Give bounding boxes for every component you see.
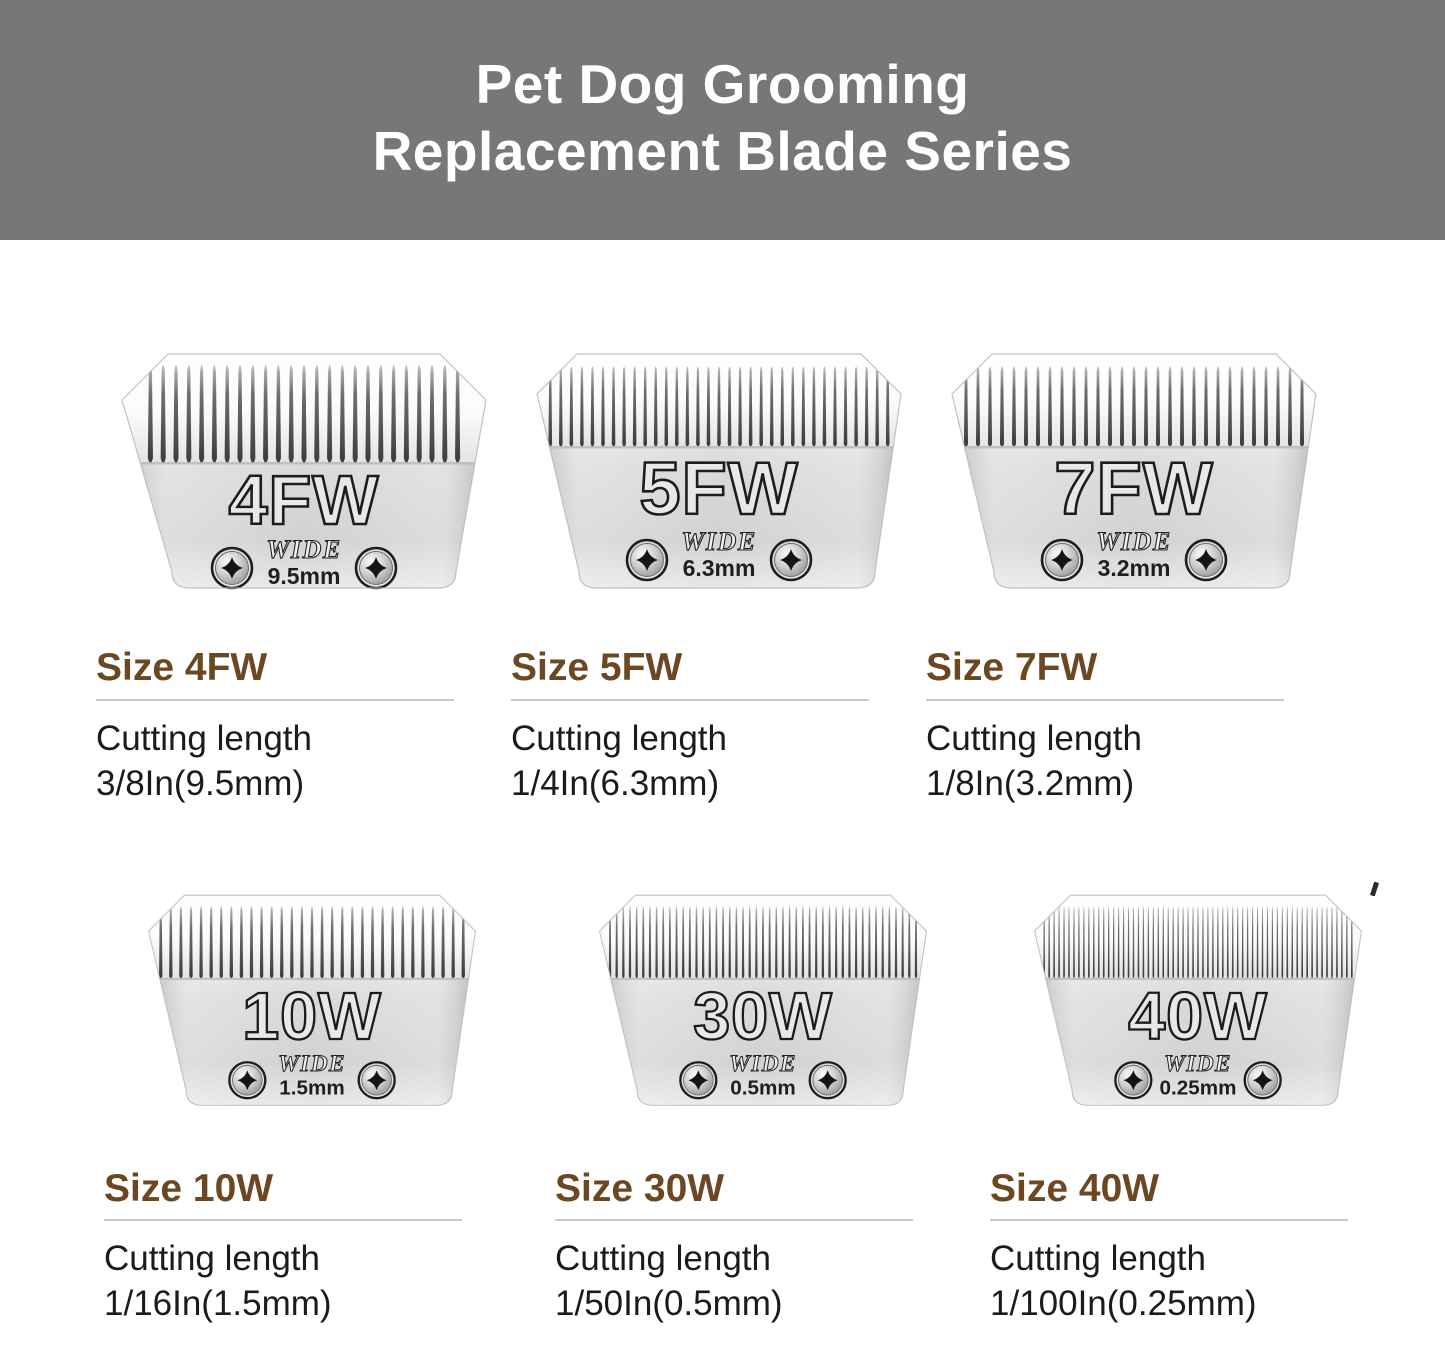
product-card-4fw[interactable]: 4FWWIDE9.5mm Size 4FW Cutting length 3/8… <box>96 336 511 807</box>
blade-screw-left <box>1115 1062 1151 1098</box>
product-info-7fw: Size 7FW Cutting length 1/8In(3.2mm) <box>926 626 1341 807</box>
blade-wide-mark-30w: WIDE <box>729 1051 797 1077</box>
product-card-10w[interactable]: 10WWIDE1.5mm Size 10W Cutting length 1/1… <box>104 879 519 1328</box>
blade-image-30w: 30WWIDE0.5mm <box>579 879 947 1135</box>
blade-screw-right <box>358 1062 394 1098</box>
product-info-10w: Size 10W Cutting length 1/16In(1.5mm) <box>104 1141 519 1328</box>
product-row-2: 10WWIDE1.5mm Size 10W Cutting length 1/1… <box>0 807 1445 1328</box>
blade-engraving-10w: 10W <box>242 979 381 1053</box>
cutting-length-value-40w: 1/100In(0.25mm) <box>990 1282 1405 1327</box>
cutting-length-label-7fw: Cutting length <box>926 717 1341 762</box>
blade-wide-mark-5fw: WIDE <box>681 527 756 556</box>
blade-engraving-30w: 30W <box>693 979 832 1053</box>
blade-image-7fw-wrap: 7FWWIDE3.2mm <box>926 336 1341 626</box>
product-info-40w: Size 40W Cutting length 1/100In(0.25mm) <box>990 1141 1405 1328</box>
cutting-length-label-30w: Cutting length <box>555 1237 970 1282</box>
size-title-4fw: Size 4FW <box>96 648 511 699</box>
blade-wide-mark-4fw: WIDE <box>266 535 341 564</box>
cutting-length-label-4fw: Cutting length <box>96 717 511 762</box>
size-title-30w: Size 30W <box>555 1169 970 1220</box>
product-info-5fw: Size 5FW Cutting length 1/4In(6.3mm) <box>511 626 926 807</box>
product-card-7fw[interactable]: 7FWWIDE3.2mm Size 7FW Cutting length 1/8… <box>926 336 1341 807</box>
blade-screw-left <box>1042 540 1082 580</box>
blade-image-10w-wrap: 10WWIDE1.5mm <box>104 879 519 1141</box>
blade-mm-text-4fw: 9.5mm <box>267 563 340 589</box>
blade-screw-right <box>1244 1062 1280 1098</box>
cutting-length-label-10w: Cutting length <box>104 1237 519 1282</box>
blade-screw-left <box>680 1062 716 1098</box>
size-title-5fw: Size 5FW <box>511 648 926 699</box>
product-info-30w: Size 30W Cutting length 1/50In(0.5mm) <box>555 1141 970 1328</box>
product-grid: 4FWWIDE9.5mm Size 4FW Cutting length 3/8… <box>0 240 1445 1327</box>
blade-image-4fw-wrap: 4FWWIDE9.5mm <box>96 336 511 626</box>
blade-engraving-7fw: 7FW <box>1054 447 1213 530</box>
blade-mm-text-30w: 0.5mm <box>730 1076 795 1099</box>
product-row-1: 4FWWIDE9.5mm Size 4FW Cutting length 3/8… <box>0 240 1445 807</box>
size-title-10w: Size 10W <box>104 1169 519 1220</box>
title-rule <box>926 699 1284 701</box>
blade-engraving-40w: 40W <box>1128 979 1267 1053</box>
blade-wide-mark-40w: WIDE <box>1164 1051 1232 1077</box>
title-rule <box>990 1219 1348 1221</box>
cutting-length-value-4fw: 3/8In(9.5mm) <box>96 762 511 807</box>
page-title-line-1: Pet Dog Grooming <box>476 51 970 118</box>
blade-image-40w-wrap: 40WWIDE0.25mm <box>990 879 1405 1141</box>
blade-wide-mark-7fw: WIDE <box>1096 527 1171 556</box>
blade-image-10w: 10WWIDE1.5mm <box>128 879 496 1135</box>
blade-image-5fw-wrap: 5FWWIDE6.3mm <box>511 336 926 626</box>
blade-image-4fw: 4FWWIDE9.5mm <box>104 336 504 621</box>
blade-screw-right <box>1186 540 1226 580</box>
blade-screw-right <box>809 1062 845 1098</box>
product-card-5fw[interactable]: 5FWWIDE6.3mm Size 5FW Cutting length 1/4… <box>511 336 926 807</box>
blade-image-5fw: 5FWWIDE6.3mm <box>519 336 919 621</box>
cutting-length-value-7fw: 1/8In(3.2mm) <box>926 762 1341 807</box>
blade-image-30w-wrap: 30WWIDE0.5mm <box>555 879 970 1141</box>
title-rule <box>511 699 869 701</box>
header-banner: Pet Dog Grooming Replacement Blade Serie… <box>0 0 1445 240</box>
product-info-4fw: Size 4FW Cutting length 3/8In(9.5mm) <box>96 626 511 807</box>
blade-engraving-5fw: 5FW <box>639 447 798 530</box>
blade-wide-mark-10w: WIDE <box>278 1051 346 1077</box>
blade-mm-text-7fw: 3.2mm <box>1097 555 1170 581</box>
title-rule <box>555 1219 913 1221</box>
cutting-length-label-5fw: Cutting length <box>511 717 926 762</box>
blade-mm-text-5fw: 6.3mm <box>682 555 755 581</box>
cutting-length-value-30w: 1/50In(0.5mm) <box>555 1282 970 1327</box>
cutting-length-value-5fw: 1/4In(6.3mm) <box>511 762 926 807</box>
blade-image-7fw: 7FWWIDE3.2mm <box>934 336 1334 621</box>
blade-screw-left <box>212 548 252 588</box>
blade-screw-right <box>356 548 396 588</box>
size-title-7fw: Size 7FW <box>926 648 1341 699</box>
blade-screw-left <box>627 540 667 580</box>
page-title-line-2: Replacement Blade Series <box>373 118 1073 185</box>
blade-image-40w: 40WWIDE0.25mm <box>1014 879 1382 1135</box>
blade-mm-text-40w: 0.25mm <box>1159 1076 1236 1099</box>
blade-mm-text-10w: 1.5mm <box>279 1076 344 1099</box>
title-rule <box>104 1219 462 1221</box>
cutting-length-label-40w: Cutting length <box>990 1237 1405 1282</box>
blade-screw-right <box>771 540 811 580</box>
blade-screw-left <box>229 1062 265 1098</box>
blade-engraving-4fw: 4FW <box>228 461 379 539</box>
title-rule <box>96 699 454 701</box>
size-title-40w: Size 40W <box>990 1169 1405 1220</box>
product-card-30w[interactable]: 30WWIDE0.5mm Size 30W Cutting length 1/5… <box>555 879 970 1328</box>
product-card-40w[interactable]: 40WWIDE0.25mm Size 40W Cutting length 1/… <box>990 879 1405 1328</box>
cutting-length-value-10w: 1/16In(1.5mm) <box>104 1282 519 1327</box>
